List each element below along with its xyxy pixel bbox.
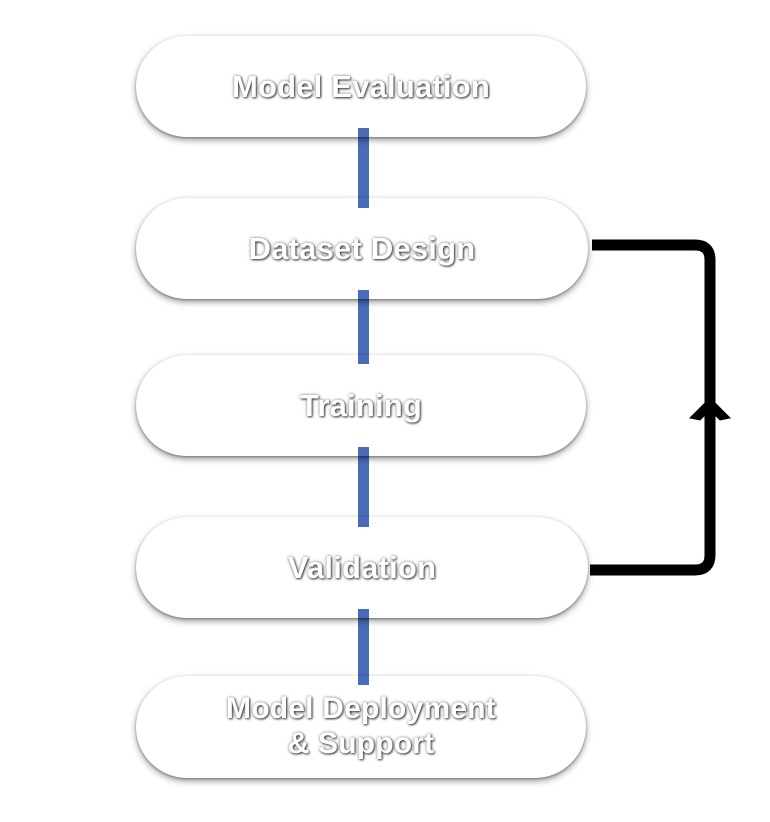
connector-validation-to-model-deployment — [358, 609, 369, 685]
process-node-model-deployment-support[interactable]: Model Deployment & Support — [136, 676, 586, 778]
process-node-dataset-design[interactable]: Dataset Design — [136, 198, 588, 299]
connector-training-to-validation — [358, 447, 369, 527]
node-label-training: Training — [300, 388, 422, 424]
feedback-loop-path — [590, 245, 710, 570]
node-label-validation: Validation — [288, 550, 436, 586]
process-node-model-evaluation[interactable]: Model Evaluation — [136, 36, 586, 137]
process-node-validation[interactable]: Validation — [136, 517, 588, 618]
connector-model-evaluation-to-dataset-design — [358, 128, 369, 208]
node-label-model-deployment-support: Model Deployment & Support — [226, 692, 496, 762]
connector-dataset-design-to-training — [358, 290, 369, 364]
flowchart-canvas: Model Evaluation Dataset Design Training… — [0, 0, 770, 822]
node-label-model-evaluation: Model Evaluation — [232, 69, 490, 105]
node-label-dataset-design: Dataset Design — [249, 231, 476, 267]
feedback-loop-arrowhead-icon — [690, 398, 730, 420]
process-node-training[interactable]: Training — [136, 355, 586, 456]
